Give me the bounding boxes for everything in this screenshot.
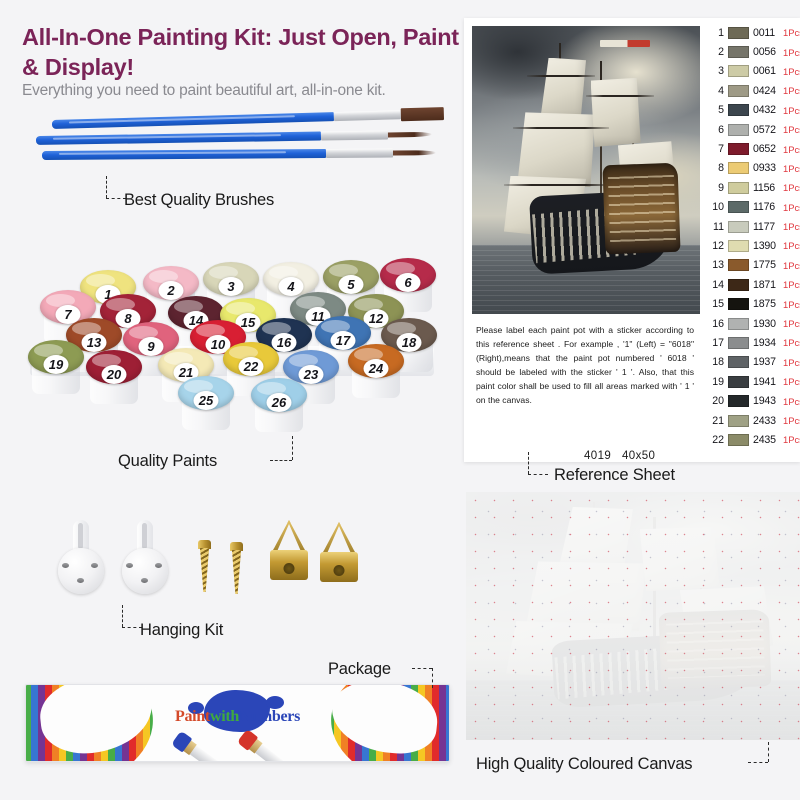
swatch-row: 504321Pcs [708,101,800,120]
swatch-index: 19 [708,376,724,388]
swatch-index: 13 [708,259,724,271]
swatch-index: 7 [708,143,724,155]
swatch-code: 1934 [753,337,779,349]
brand-word-numbers: Numbers [239,708,300,725]
swatch-qty: 1Pcs [783,163,800,174]
package-brand-title: PaintwithNumbers [26,708,449,726]
swatch-chip [728,143,749,155]
swatch-chip [728,182,749,194]
swatch-chip [728,279,749,291]
swatch-row: 1111771Pcs [708,217,800,236]
swatch-qty: 1Pcs [783,396,800,407]
swatch-index: 12 [708,240,724,252]
swatch-chip [728,318,749,330]
swatch-qty: 1Pcs [783,182,800,193]
swatch-index: 8 [708,162,724,174]
reference-artwork [472,26,700,314]
brushes-group [14,118,454,180]
swatch-chip [728,240,749,252]
swatch-code: 0424 [753,85,779,97]
paint-pots-group: 1 2 3 4 5 6 7 8 14 15 11 12 13 9 10 16 1… [18,258,448,430]
swatch-code: 0432 [753,104,779,116]
artwork-stern-castle [603,163,681,255]
brush-handle [52,112,334,129]
caption-reference: Reference Sheet [554,466,675,485]
brush-handle [36,132,321,145]
swatch-row: 809331Pcs [708,159,800,178]
paint-pot: 19 [28,340,84,394]
hanging-screw [230,542,243,594]
swatch-chip [728,356,749,368]
swatch-qty: 1Pcs [783,376,800,387]
swatch-index: 4 [708,85,724,97]
artwork-yard [586,95,654,97]
artwork-yard [527,75,595,77]
brush-round-medium [36,130,432,145]
swatch-index: 16 [708,318,724,330]
page-subtitle: Everything you need to paint beautiful a… [22,82,472,100]
swatch-qty: 1Pcs [783,299,800,310]
swatch-index: 20 [708,395,724,407]
swatch-row: 605721Pcs [708,120,800,139]
swatch-index: 1 [708,27,724,39]
swatch-chip [728,415,749,427]
leader-canvas [748,742,772,768]
caption-package: Package [328,660,391,679]
swatch-row: 1011761Pcs [708,198,800,217]
swatch-code: 1875 [753,298,779,310]
swatch-row: 911561Pcs [708,178,800,197]
swatch-index: 18 [708,356,724,368]
brand-word-with: with [210,708,239,725]
brush-tip-flat [401,107,444,122]
swatch-row: 1719341Pcs [708,333,800,352]
swatch-index: 9 [708,182,724,194]
swatch-row: 404241Pcs [708,81,800,100]
swatch-row: 2124331Pcs [708,411,800,430]
leader-package [412,668,436,690]
swatch-row: 300611Pcs [708,62,800,81]
brush-round-fine [42,148,436,160]
caption-brushes: Best Quality Brushes [124,191,274,210]
caption-canvas: High Quality Coloured Canvas [476,755,692,774]
swatch-code: 1390 [753,240,779,252]
reference-product-code: 4019 40x50 [584,450,655,462]
swatch-chip [728,337,749,349]
swatch-code: 0652 [753,143,779,155]
brush-ferrule [334,110,401,121]
swatch-chip [728,162,749,174]
swatch-chip [728,85,749,97]
paint-pot: 24 [348,344,404,398]
brush-flat [52,109,444,129]
swatch-chip [728,201,749,213]
swatch-chip [728,395,749,407]
color-swatch-list: 100111Pcs 200561Pcs 300611Pcs 404241Pcs … [708,23,800,450]
swatch-index: 6 [708,124,724,136]
swatch-code: 1156 [753,182,779,194]
swatch-code: 2433 [753,415,779,427]
package-box: PaintwithNumbers [25,684,450,762]
swatch-code: 1937 [753,356,779,368]
swatch-index: 11 [708,221,724,233]
swatch-chip [728,46,749,58]
swatch-qty: 1Pcs [783,124,800,135]
swatch-code: 0011 [753,27,779,39]
swatch-code: 1775 [753,259,779,271]
infographic-page: All-In-One Painting Kit: Just Open, Pain… [0,0,800,800]
swatch-code: 0056 [753,46,779,58]
triangle-hanger [268,520,310,582]
artwork-yard [513,127,609,129]
swatch-index: 22 [708,434,724,446]
reference-sheet: Please label each paint pot with a stick… [464,18,800,462]
hanging-hook [122,520,168,594]
swatch-chip [728,376,749,388]
swatch-qty: 1Pcs [783,279,800,290]
swatch-qty: 1Pcs [783,337,800,348]
swatch-row: 2019431Pcs [708,391,800,410]
artwork-sail [518,112,596,187]
swatch-chip [728,259,749,271]
package-brush-red [238,730,290,762]
swatch-chip [728,298,749,310]
swatch-chip [728,65,749,77]
canvas-number-regions [466,492,800,740]
swatch-code: 2435 [753,434,779,446]
paint-pot: 25 [178,376,234,430]
caption-paints: Quality Paints [118,452,217,471]
swatch-code: 1871 [753,279,779,291]
swatch-row: 1819371Pcs [708,353,800,372]
swatch-qty: 1Pcs [783,105,800,116]
brush-tip-round [388,132,432,138]
swatch-chip [728,124,749,136]
swatch-qty: 1Pcs [783,240,800,251]
swatch-row: 2224351Pcs [708,430,800,449]
swatch-row: 1317751Pcs [708,256,800,275]
swatch-qty: 1Pcs [783,318,800,329]
page-title: All-In-One Painting Kit: Just Open, Pain… [22,22,462,82]
swatch-code: 1930 [753,318,779,330]
swatch-index: 3 [708,65,724,77]
artwork-yard [504,184,613,186]
package-face: PaintwithNumbers [25,684,450,762]
swatch-code: 0933 [753,162,779,174]
coloured-canvas [466,492,800,740]
swatch-qty: 1Pcs [783,202,800,213]
swatch-code: 1943 [753,395,779,407]
swatch-qty: 1Pcs [783,47,800,58]
brush-handle [42,149,326,160]
artwork-flag [600,40,650,47]
swatch-row: 706521Pcs [708,139,800,158]
brand-word-paint: Paint [175,708,210,725]
artwork-sail [591,78,641,147]
swatch-qty: 1Pcs [783,27,800,38]
swatch-qty: 1Pcs [783,434,800,445]
triangle-hanger [318,522,360,584]
swatch-qty: 1Pcs [783,415,800,426]
swatch-row: 1619301Pcs [708,314,800,333]
product-code: 4019 [584,450,611,462]
swatch-index: 14 [708,279,724,291]
swatch-qty: 1Pcs [783,357,800,368]
package-brush-blue [172,732,225,762]
swatch-code: 1177 [753,221,779,233]
swatch-chip [728,221,749,233]
brush-tip-round [393,150,436,155]
swatch-row: 200561Pcs [708,42,800,61]
swatch-chip [728,104,749,116]
swatch-code: 1176 [753,201,779,213]
paint-pot: 26 [251,378,307,432]
swatch-index: 21 [708,415,724,427]
swatch-qty: 1Pcs [783,221,800,232]
hanging-screw [198,540,211,592]
hanging-kit-group [50,512,350,612]
swatch-row: 1919411Pcs [708,372,800,391]
canvas-size: 40x50 [622,450,655,462]
swatch-qty: 1Pcs [783,260,800,271]
swatch-index: 15 [708,298,724,310]
swatch-qty: 1Pcs [783,85,800,96]
swatch-row: 100111Pcs [708,23,800,42]
swatch-row: 1213901Pcs [708,236,800,255]
hanging-hook [58,520,104,594]
swatch-code: 0061 [753,65,779,77]
swatch-row: 1518751Pcs [708,294,800,313]
swatch-index: 10 [708,201,724,213]
caption-hanging: Hanging Kit [140,621,223,640]
brush-ferrule [326,149,393,158]
swatch-index: 2 [708,46,724,58]
swatch-chip [728,434,749,446]
swatch-code: 0572 [753,124,779,136]
leader-paints [270,436,294,466]
swatch-row: 1418711Pcs [708,275,800,294]
swatch-qty: 1Pcs [783,144,800,155]
swatch-index: 17 [708,337,724,349]
swatch-code: 1941 [753,376,779,388]
swatch-qty: 1Pcs [783,66,800,77]
swatch-chip [728,27,749,39]
leader-reference [528,452,552,480]
swatch-index: 5 [708,104,724,116]
paint-pot: 20 [86,350,142,404]
brush-ferrule [321,130,388,140]
reference-instructions: Please label each paint pot with a stick… [476,324,694,408]
